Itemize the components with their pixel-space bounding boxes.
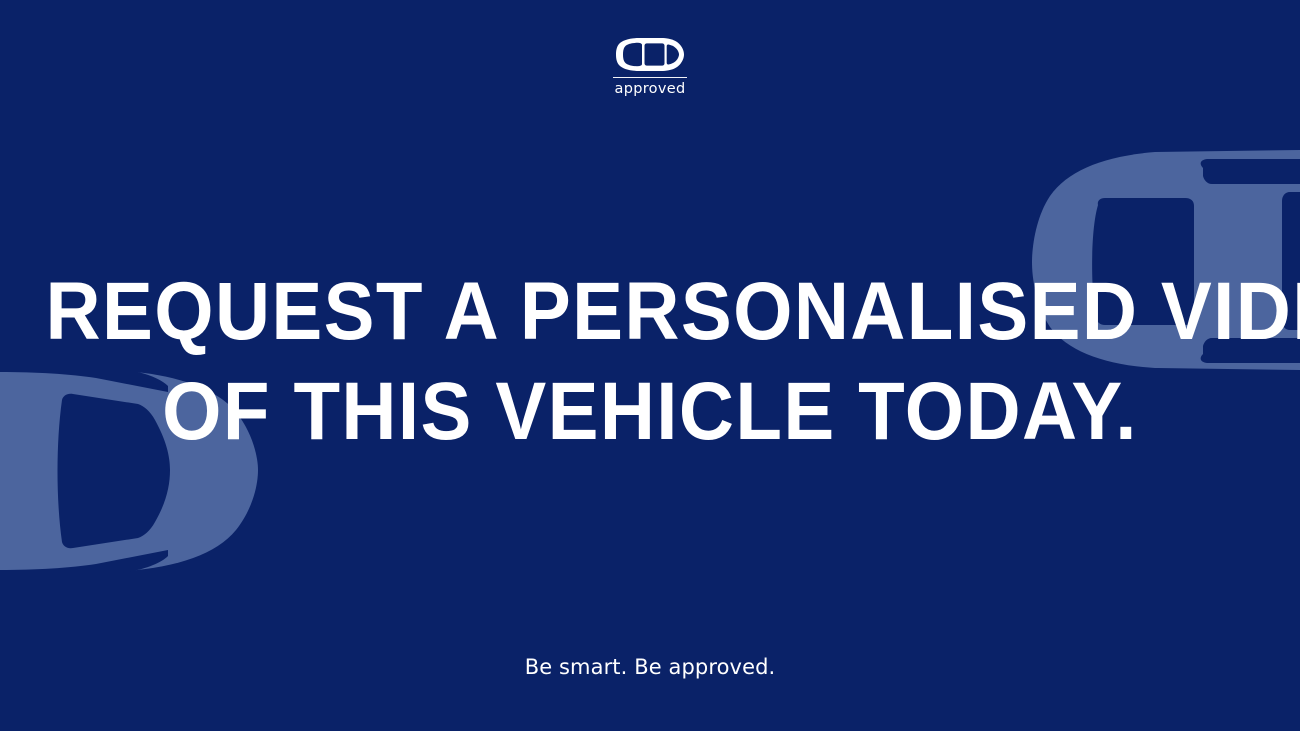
car-top-view-icon (615, 36, 685, 73)
headline-line-2: OF THIS VEHICLE TODAY. (46, 362, 1255, 462)
brand-logo: approved (0, 36, 1300, 98)
page-title: REQUEST A PERSONALISED VIDEO OF THIS VEH… (0, 262, 1300, 462)
promo-banner: approved REQUEST A PERSONALISED VIDEO OF… (0, 0, 1300, 731)
headline-line-1: REQUEST A PERSONALISED VIDEO (46, 262, 1255, 362)
brand-tagline: Be smart. Be approved. (0, 655, 1300, 680)
logo-divider (613, 77, 687, 78)
logo-wordmark: approved (615, 82, 686, 98)
